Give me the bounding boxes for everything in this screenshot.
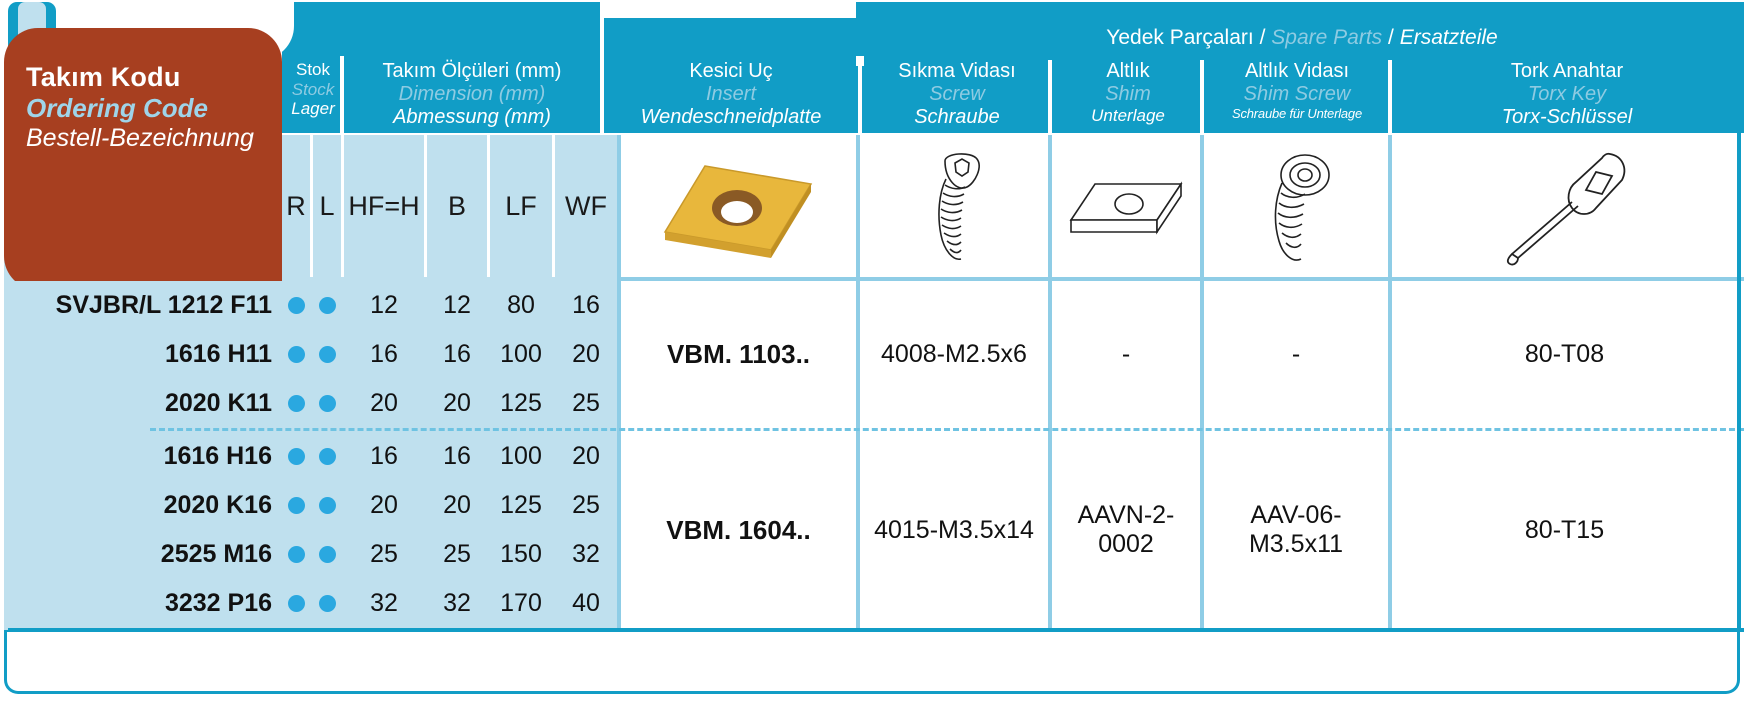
stock-dot-r	[282, 579, 310, 628]
row-ordering-code: 1616 H11	[8, 330, 282, 379]
subheader-b-label: B	[448, 191, 466, 222]
stock-dot	[288, 497, 305, 514]
stock-dot-l	[313, 330, 341, 379]
stock-dot-l	[313, 432, 341, 481]
stock-dot	[319, 297, 336, 314]
stock-dot-l	[313, 281, 341, 330]
stock-dot-r	[282, 379, 310, 428]
header-stock-tr: Stok	[282, 60, 344, 80]
header-shim-screw-en: Shim Screw	[1204, 83, 1390, 106]
spare-parts-banner: Yedek Parçaları / Spare Parts / Ersatzte…	[860, 26, 1744, 50]
subheader-b: B	[427, 135, 487, 277]
ordering-code-text: Takım Kodu Ordering Code Bestell-Bezeich…	[26, 62, 276, 152]
header-shim-screw-tr: Altlık Vidası	[1204, 60, 1390, 83]
row-wf-value: 40	[555, 579, 617, 628]
header-shim-screw: Altlık Vidası Shim Screw Schraube für Un…	[1204, 60, 1390, 121]
row-wf-value: 25	[555, 379, 617, 428]
stock-dot-l	[313, 579, 341, 628]
row-hf_h-value: 12	[344, 281, 424, 330]
header-dimension: Takım Ölçüleri (mm) Dimension (mm) Abmes…	[344, 60, 600, 130]
header-dimension-tr: Takım Ölçüleri (mm)	[344, 60, 600, 83]
row-wf-value: 20	[555, 432, 617, 481]
stock-dot	[319, 595, 336, 612]
hdr-sep-0	[858, 60, 862, 133]
stock-dot	[288, 395, 305, 412]
hdr-sep-ins	[600, 18, 604, 133]
stock-dot	[288, 546, 305, 563]
right-edge-rule	[1737, 2, 1741, 630]
row-hf_h-value: 20	[344, 481, 424, 530]
row-b-value: 16	[427, 330, 487, 379]
row-b-value: 20	[427, 379, 487, 428]
row-wf-value: 25	[555, 481, 617, 530]
hdr-sep-2	[1200, 60, 1204, 133]
stock-dot-l	[313, 379, 341, 428]
row-b-value: 20	[427, 481, 487, 530]
insert-icon	[620, 140, 856, 277]
row-ordering-code: 3232 P16	[8, 579, 282, 628]
row-wf-value: 16	[555, 281, 617, 330]
header-insert-en: Insert	[606, 83, 856, 106]
row-lf-value: 150	[490, 530, 552, 579]
header-shim-screw-de: Schraube für Unterlage	[1204, 106, 1390, 121]
header-torx-key: Tork Anahtar Torx Key Torx-Schlüssel	[1392, 60, 1742, 130]
header-notch-insert	[600, 0, 856, 18]
row-hf_h-value: 20	[344, 379, 424, 428]
group-divider	[150, 428, 1744, 431]
row-hf_h-value: 25	[344, 530, 424, 579]
stock-dot	[319, 448, 336, 465]
spare-parts-sep2: /	[1388, 26, 1394, 49]
stock-dot-r	[282, 530, 310, 579]
left-edge-rule	[4, 290, 8, 630]
header-shim-tr: Altlık	[1052, 60, 1204, 83]
subheader-hfh: HF=H	[344, 135, 424, 277]
row-ordering-code: SVJBR/L 1212 F11	[8, 281, 282, 330]
row-hf_h-value: 32	[344, 579, 424, 628]
ordering-code-en: Ordering Code	[26, 94, 276, 123]
group-insert-value: VBM. 1604..	[621, 432, 856, 628]
group-shim-value: -	[1052, 281, 1200, 428]
header-screw-de: Schraube	[862, 106, 1052, 129]
row-wf-value: 20	[555, 330, 617, 379]
subheader-wf-label: WF	[565, 191, 607, 222]
spare-parts-en: Spare Parts	[1271, 26, 1382, 49]
stock-dot	[288, 346, 305, 363]
stock-dot-r	[282, 481, 310, 530]
row-b-value: 16	[427, 432, 487, 481]
header-insert-de: Wendeschneidplatte	[606, 106, 856, 129]
torx-key-icon	[1392, 140, 1742, 277]
header-stock: Stok Stock Lager	[282, 60, 344, 119]
row-b-value: 32	[427, 579, 487, 628]
group-shim-screw-value: AAV-06-M3.5x11	[1204, 432, 1388, 628]
stock-dot	[288, 448, 305, 465]
row-b-value: 25	[427, 530, 487, 579]
row-lf-value: 170	[490, 579, 552, 628]
header-screw: Sıkma Vidası Screw Schraube	[862, 60, 1052, 130]
row-lf-value: 100	[490, 330, 552, 379]
shim-screw-icon	[1204, 140, 1388, 277]
group-torx-key-value: 80-T08	[1392, 281, 1737, 428]
row-hf_h-value: 16	[344, 330, 424, 379]
hdr-sep-stok	[340, 56, 344, 133]
row-lf-value: 80	[490, 281, 552, 330]
header-torx-key-tr: Tork Anahtar	[1392, 60, 1742, 83]
subheader-r-label: R	[286, 191, 306, 222]
header-insert: Kesici Uç Insert Wendeschneidplatte	[606, 60, 856, 130]
group-screw-value: 4015-M3.5x14	[860, 432, 1048, 628]
stock-dot-r	[282, 330, 310, 379]
header-dimension-de: Abmessung (mm)	[344, 106, 600, 129]
stock-dot	[288, 297, 305, 314]
subheader-lf-label: LF	[505, 191, 537, 222]
header-screw-tr: Sıkma Vidası	[862, 60, 1052, 83]
row-lf-value: 125	[490, 481, 552, 530]
screw-icon	[862, 140, 1048, 277]
group-screw-value: 4008-M2.5x6	[860, 281, 1048, 428]
header-torx-key-de: Torx-Schlüssel	[1392, 106, 1742, 129]
stock-dot-r	[282, 281, 310, 330]
group-shim-value: AAVN-2-0002	[1052, 432, 1200, 628]
subheader-r: R	[282, 135, 310, 277]
hdr-sep-1	[1048, 60, 1052, 133]
header-torx-key-en: Torx Key	[1392, 83, 1742, 106]
group-shim-screw-value: -	[1204, 281, 1388, 428]
header-insert-tr: Kesici Uç	[606, 60, 856, 83]
group-insert-value: VBM. 1103..	[621, 281, 856, 428]
stock-dot-r	[282, 432, 310, 481]
catalog-table-sheet: Takım Kodu Ordering Code Bestell-Bezeich…	[0, 0, 1744, 701]
hdr-sep-3	[1388, 60, 1392, 133]
stock-dot-l	[313, 481, 341, 530]
header-shim-de: Unterlage	[1052, 106, 1204, 126]
bottom-frame-outline	[4, 628, 1740, 694]
header-shim: Altlık Shim Unterlage	[1052, 60, 1204, 126]
stock-dot	[319, 497, 336, 514]
subheader-hfh-label: HF=H	[348, 191, 419, 222]
row-ordering-code: 2020 K16	[8, 481, 282, 530]
spare-parts-tr: Yedek Parçaları	[1106, 26, 1253, 49]
stock-dot	[319, 346, 336, 363]
row-wf-value: 32	[555, 530, 617, 579]
ordering-code-tr: Takım Kodu	[26, 62, 276, 92]
row-b-value: 12	[427, 281, 487, 330]
shim-icon	[1052, 140, 1200, 277]
header-stock-en: Stock	[282, 80, 344, 100]
header-screw-en: Screw	[862, 83, 1052, 106]
subheader-lf: LF	[490, 135, 552, 277]
header-stock-de: Lager	[282, 99, 344, 119]
subheader-l-label: L	[319, 191, 334, 222]
stock-dot	[319, 546, 336, 563]
row-lf-value: 125	[490, 379, 552, 428]
header-dimension-en: Dimension (mm)	[344, 83, 600, 106]
spare-parts-sep1: /	[1260, 26, 1266, 49]
stock-dot	[319, 395, 336, 412]
row-lf-value: 100	[490, 432, 552, 481]
row-ordering-code: 2525 M16	[8, 530, 282, 579]
stock-dot	[288, 595, 305, 612]
row-ordering-code: 1616 H16	[8, 432, 282, 481]
subheader-l: L	[313, 135, 341, 277]
header-shim-en: Shim	[1052, 83, 1204, 106]
stock-dot-l	[313, 530, 341, 579]
spare-parts-de: Ersatzteile	[1400, 26, 1498, 49]
subheader-wf: WF	[555, 135, 617, 277]
row-ordering-code: 2020 K11	[8, 379, 282, 428]
ordering-code-de: Bestell-Bezeichnung	[26, 124, 276, 152]
row-hf_h-value: 16	[344, 432, 424, 481]
group-torx-key-value: 80-T15	[1392, 432, 1737, 628]
